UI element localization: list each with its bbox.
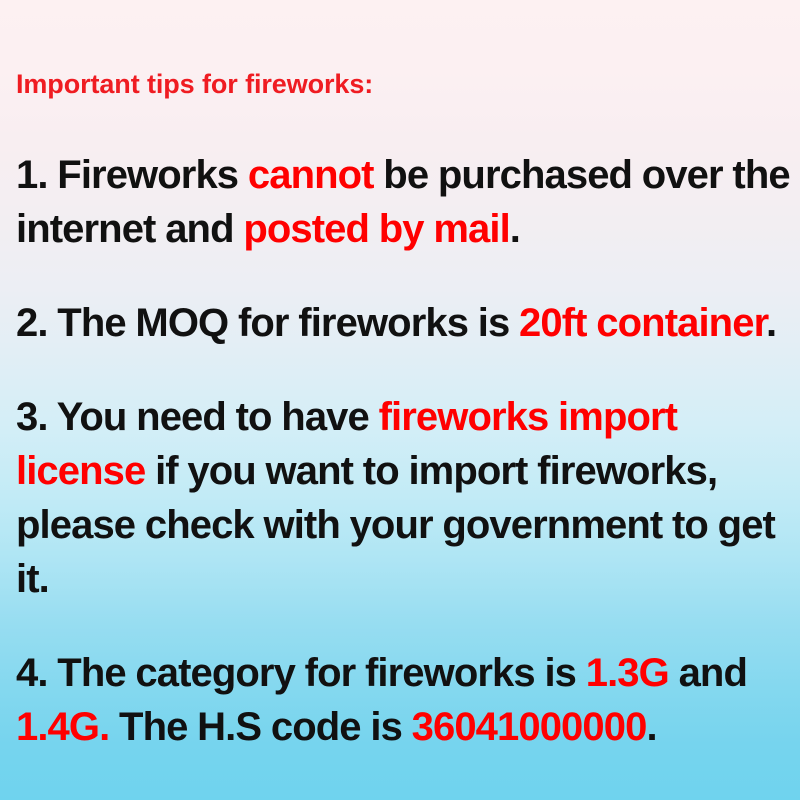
tip-text: . bbox=[646, 705, 656, 749]
tip-item: 1. Fireworks cannot be purchased over th… bbox=[16, 148, 792, 256]
tips-list: 1. Fireworks cannot be purchased over th… bbox=[16, 148, 792, 754]
tip-item: 4. The category for fireworks is 1.3G an… bbox=[16, 646, 792, 754]
fireworks-tips-card: Important tips for fireworks: 1. Firewor… bbox=[0, 0, 800, 800]
tip-highlight: cannot bbox=[248, 153, 374, 197]
tip-text: The MOQ for fireworks is bbox=[57, 301, 519, 345]
tip-text: You need to have bbox=[57, 395, 379, 439]
tip-item: 3. You need to have fireworks import lic… bbox=[16, 390, 792, 606]
tip-text: . bbox=[510, 207, 520, 251]
tip-highlight: 1.3G bbox=[586, 651, 669, 695]
tip-item: 2. The MOQ for fireworks is 20ft contain… bbox=[16, 296, 792, 350]
tip-text: The H.S code is bbox=[109, 705, 411, 749]
tip-highlight: posted by mail bbox=[243, 207, 509, 251]
tip-text: and bbox=[669, 651, 747, 695]
tip-number: 3. bbox=[16, 395, 48, 439]
tip-number: 2. bbox=[16, 301, 48, 345]
tip-text: The category for fireworks is bbox=[57, 651, 585, 695]
page-title: Important tips for fireworks: bbox=[16, 68, 373, 100]
tip-number: 1. bbox=[16, 153, 48, 197]
tip-text: . bbox=[766, 301, 776, 345]
tip-number: 4. bbox=[16, 651, 48, 695]
tip-highlight: 20ft container bbox=[519, 301, 766, 345]
tip-highlight: 36041000000 bbox=[412, 705, 647, 749]
tip-text: Fireworks bbox=[57, 153, 248, 197]
tip-highlight: 1.4G. bbox=[16, 705, 109, 749]
